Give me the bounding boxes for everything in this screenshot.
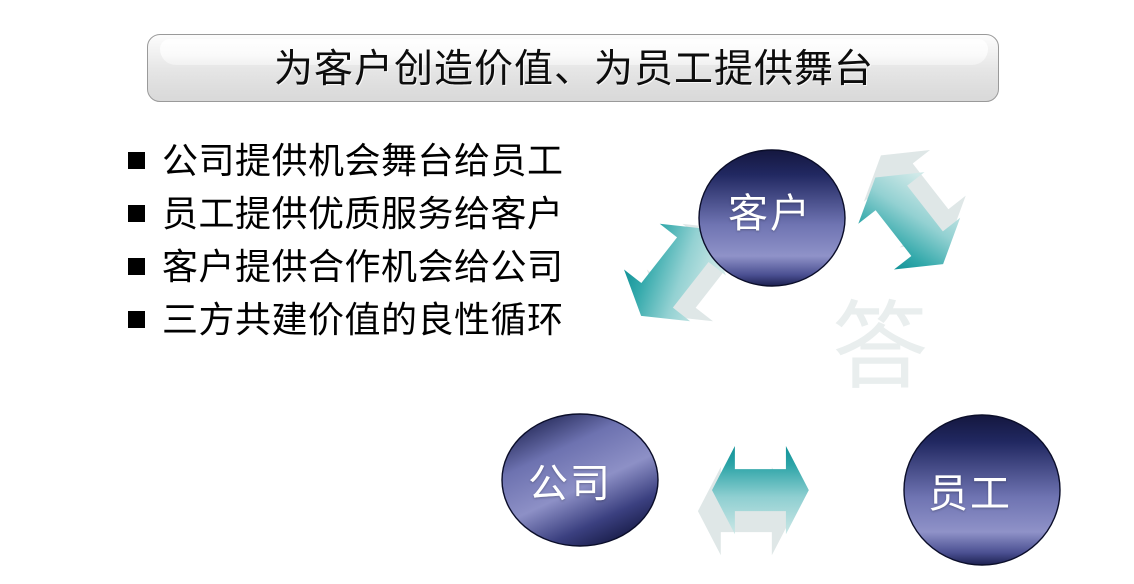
slide-title: 为客户创造价值、为员工提供舞台	[148, 35, 1000, 103]
node-circle-employee[interactable]	[904, 415, 1060, 565]
slide-canvas: 为客户创造价值、为员工提供舞台 公司提供机会舞台给员工 员工提供优质服务给客户 …	[0, 0, 1134, 584]
cycle-diagram-svg: 答	[480, 130, 1120, 584]
square-bullet-icon	[128, 258, 145, 275]
square-bullet-icon	[128, 152, 145, 169]
square-bullet-icon	[128, 311, 145, 328]
title-banner: 为客户创造价值、为员工提供舞台	[147, 34, 999, 102]
node-circle-customer[interactable]	[699, 150, 845, 286]
node-circle-company[interactable]	[502, 414, 658, 546]
connector-customer-employee	[834, 129, 991, 290]
cycle-diagram: 答	[480, 130, 1120, 584]
connector-company-employee	[698, 446, 809, 555]
square-bullet-icon	[128, 205, 145, 222]
watermark-text: 答	[832, 294, 928, 401]
